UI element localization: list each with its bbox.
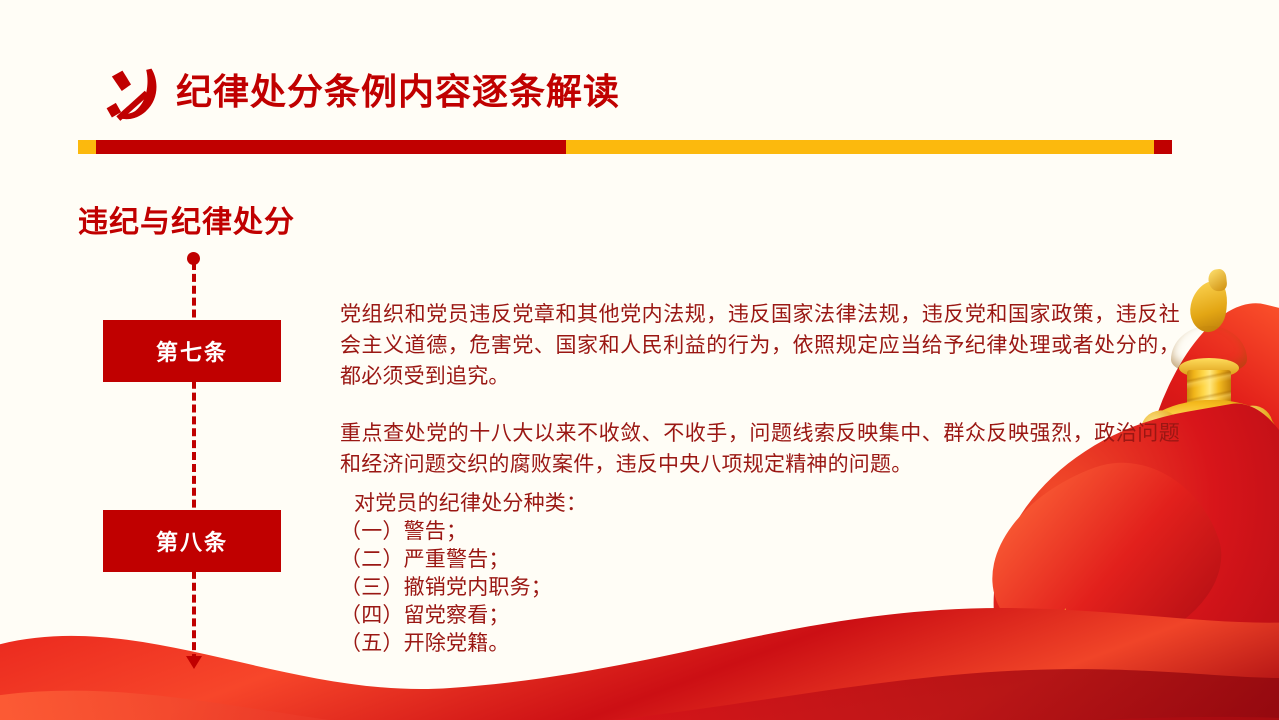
divider-segment-red-end (1154, 140, 1172, 154)
gold-star-icon (1177, 691, 1206, 719)
list-item: （一）警告； (340, 518, 860, 546)
list-title: 对党员的纪律处分种类： (340, 490, 860, 518)
article-seven-content: 党组织和党员违反党章和其他党内法规，违反国家法律法规，违反党和国家政策，违反社会… (340, 278, 1180, 501)
section-heading: 违纪与纪律处分 (78, 197, 295, 241)
article-eight-content: 对党员的纪律处分种类： （一）警告； （二）严重警告； （三）撤销党内职务； （… (340, 490, 860, 658)
article-badge-seven[interactable]: 第七条 (103, 320, 281, 382)
list-item: （三）撤销党内职务； (340, 574, 860, 602)
article-timeline: 第七条 第八条 (103, 252, 283, 682)
paragraph-violation-definition: 党组织和党员违反党章和其他党内法规，违反国家法律法规，违反党和国家政策，违反社会… (340, 299, 1180, 392)
slide-canvas: 纪律处分条例内容逐条解读 违纪与纪律处分 第七条 第八条 党组织和党员违反党章和… (0, 0, 1279, 720)
paragraph-key-investigation: 重点查处党的十八大以来不收敛、不收手，问题线索反映集中、群众反映强烈，政治问题和… (340, 418, 1180, 480)
list-item: （五）开除党籍。 (340, 630, 860, 658)
divider-segment-gold-start (78, 140, 96, 154)
divider-segment-gold-main (566, 140, 1154, 154)
gold-star-icon (1117, 660, 1165, 706)
arrow-down-icon (186, 656, 202, 669)
list-item: （二）严重警告； (340, 546, 860, 574)
divider-segment-red-main (96, 140, 566, 154)
gold-star-icon (1243, 678, 1261, 695)
gold-star-icon (1211, 683, 1234, 705)
list-item: （四）留党察看； (340, 602, 860, 630)
article-badge-eight[interactable]: 第八条 (103, 510, 281, 572)
title-divider (78, 140, 1172, 154)
page-title: 纪律处分条例内容逐条解读 (176, 70, 620, 113)
slide-header: 纪律处分条例内容逐条解读 (0, 0, 1279, 170)
gold-star-icon (1022, 605, 1114, 693)
cpc-hammer-sickle-emblem-icon (100, 62, 166, 128)
